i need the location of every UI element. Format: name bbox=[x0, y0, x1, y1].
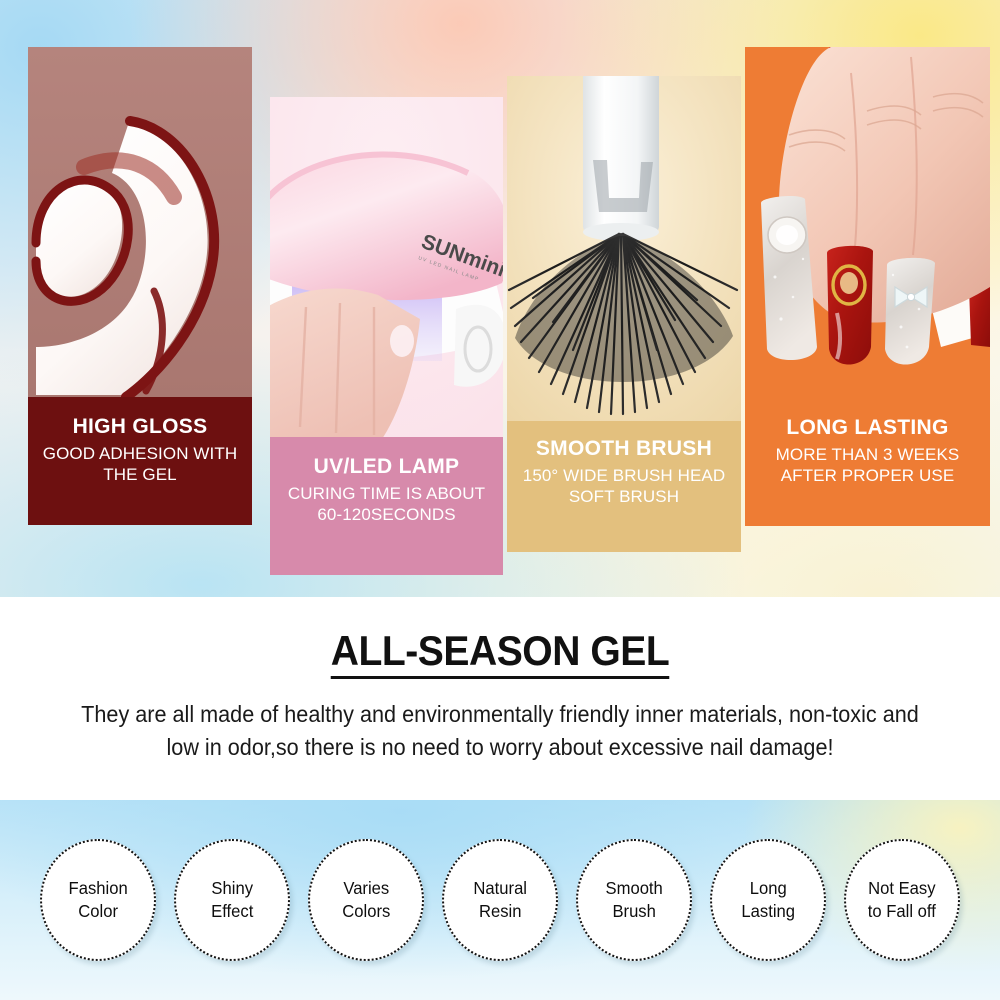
badge-line-1: Fashion bbox=[68, 878, 127, 898]
benefit-badge-row: Fashion Color Shiny Effect Varies Colors bbox=[40, 838, 960, 962]
badge-shiny-effect-label: Shiny Effect bbox=[206, 877, 258, 923]
badge-line-1: Not Easy bbox=[868, 878, 935, 898]
badge-long-lasting-label: Long Lasting bbox=[736, 877, 799, 923]
uv-lamp-caption: UV/LED LAMP CURING TIME IS ABOUT 60-120S… bbox=[270, 437, 503, 575]
infographic-page: HIGH GLOSS GOOD ADHESION WITH THE GEL bbox=[0, 0, 1000, 1000]
smooth-brush-subtitle-line2: SOFT BRUSH bbox=[513, 486, 735, 507]
badge-line-2: to Fall off bbox=[868, 901, 936, 921]
feature-card-high-gloss: HIGH GLOSS GOOD ADHESION WITH THE GEL bbox=[28, 47, 252, 525]
page-title-text: ALL-SEASON GEL bbox=[331, 627, 670, 679]
high-gloss-subtitle-line1: GOOD ADHESION WITH bbox=[34, 443, 246, 464]
badge-line-1: Smooth bbox=[605, 878, 662, 898]
badge-not-easy-to-fall-off[interactable]: Not Easy to Fall off bbox=[844, 839, 960, 961]
badge-smooth-brush-label: Smooth Brush bbox=[601, 877, 668, 923]
brush-illustration bbox=[507, 76, 741, 421]
badge-line-2: Brush bbox=[612, 901, 655, 921]
uv-lamp-subtitle-line1: CURING TIME IS ABOUT bbox=[276, 483, 497, 504]
headline-band: ALL-SEASON GEL They are all made of heal… bbox=[0, 597, 1000, 800]
benefit-badges-band: Fashion Color Shiny Effect Varies Colors bbox=[0, 800, 1000, 1000]
badge-long-lasting[interactable]: Long Lasting bbox=[710, 839, 826, 961]
high-gloss-caption: HIGH GLOSS GOOD ADHESION WITH THE GEL bbox=[28, 397, 252, 525]
high-gloss-photo bbox=[28, 47, 252, 397]
uv-lamp-title: UV/LED LAMP bbox=[276, 455, 497, 480]
badge-line-1: Shiny bbox=[211, 878, 253, 898]
feature-card-uv-led-lamp: SUNmini UV LED NAIL LAMP UV/LED LAMP CUR… bbox=[270, 97, 503, 575]
badge-fashion-color[interactable]: Fashion Color bbox=[40, 839, 156, 961]
long-lasting-subtitle-line2: AFTER PROPER USE bbox=[751, 465, 984, 486]
badge-varies-colors-label: Varies Colors bbox=[337, 877, 395, 923]
high-gloss-subtitle-line2: THE GEL bbox=[34, 464, 246, 485]
page-description: They are all made of healthy and environ… bbox=[64, 698, 936, 765]
badge-smooth-brush[interactable]: Smooth Brush bbox=[576, 839, 692, 961]
badge-not-easy-to-fall-off-label: Not Easy to Fall off bbox=[863, 877, 941, 923]
badge-varies-colors[interactable]: Varies Colors bbox=[308, 839, 424, 961]
badge-line-2: Resin bbox=[479, 901, 522, 921]
smooth-brush-photo bbox=[507, 76, 741, 421]
badge-line-2: Color bbox=[78, 901, 118, 921]
feature-card-long-lasting: LONG LASTING MORE THAN 3 WEEKS AFTER PRO… bbox=[745, 47, 990, 526]
high-gloss-title: HIGH GLOSS bbox=[34, 415, 246, 440]
badge-line-1: Natural bbox=[473, 878, 527, 898]
long-lasting-photo bbox=[745, 47, 990, 402]
badge-shiny-effect[interactable]: Shiny Effect bbox=[174, 839, 290, 961]
badge-line-2: Colors bbox=[342, 901, 390, 921]
long-lasting-title: LONG LASTING bbox=[751, 416, 984, 441]
feature-card-smooth-brush: SMOOTH BRUSH 150° WIDE BRUSH HEAD SOFT B… bbox=[507, 76, 741, 552]
badge-line-1: Varies bbox=[343, 878, 389, 898]
feature-cards-band: HIGH GLOSS GOOD ADHESION WITH THE GEL bbox=[0, 0, 1000, 597]
smooth-brush-title: SMOOTH BRUSH bbox=[513, 437, 735, 462]
uv-lamp-photo: SUNmini UV LED NAIL LAMP bbox=[270, 97, 503, 437]
gel-drip-illustration bbox=[28, 47, 252, 397]
badge-fashion-color-label: Fashion Color bbox=[64, 877, 133, 923]
long-lasting-caption: LONG LASTING MORE THAN 3 WEEKS AFTER PRO… bbox=[745, 402, 990, 526]
badge-line-2: Effect bbox=[211, 901, 253, 921]
smooth-brush-subtitle-line1: 150° WIDE BRUSH HEAD bbox=[513, 465, 735, 486]
uv-lamp-subtitle-line2: 60-120SECONDS bbox=[276, 504, 497, 525]
smooth-brush-caption: SMOOTH BRUSH 150° WIDE BRUSH HEAD SOFT B… bbox=[507, 421, 741, 552]
badge-natural-resin-label: Natural Resin bbox=[468, 877, 531, 923]
badge-line-1: Long bbox=[750, 878, 787, 898]
uv-lamp-illustration: SUNmini UV LED NAIL LAMP bbox=[270, 97, 503, 437]
page-title: ALL-SEASON GEL bbox=[35, 627, 965, 675]
nails-illustration bbox=[745, 47, 990, 402]
badge-natural-resin[interactable]: Natural Resin bbox=[442, 839, 558, 961]
long-lasting-subtitle-line1: MORE THAN 3 WEEKS bbox=[751, 444, 984, 465]
badge-line-2: Lasting bbox=[741, 901, 795, 921]
